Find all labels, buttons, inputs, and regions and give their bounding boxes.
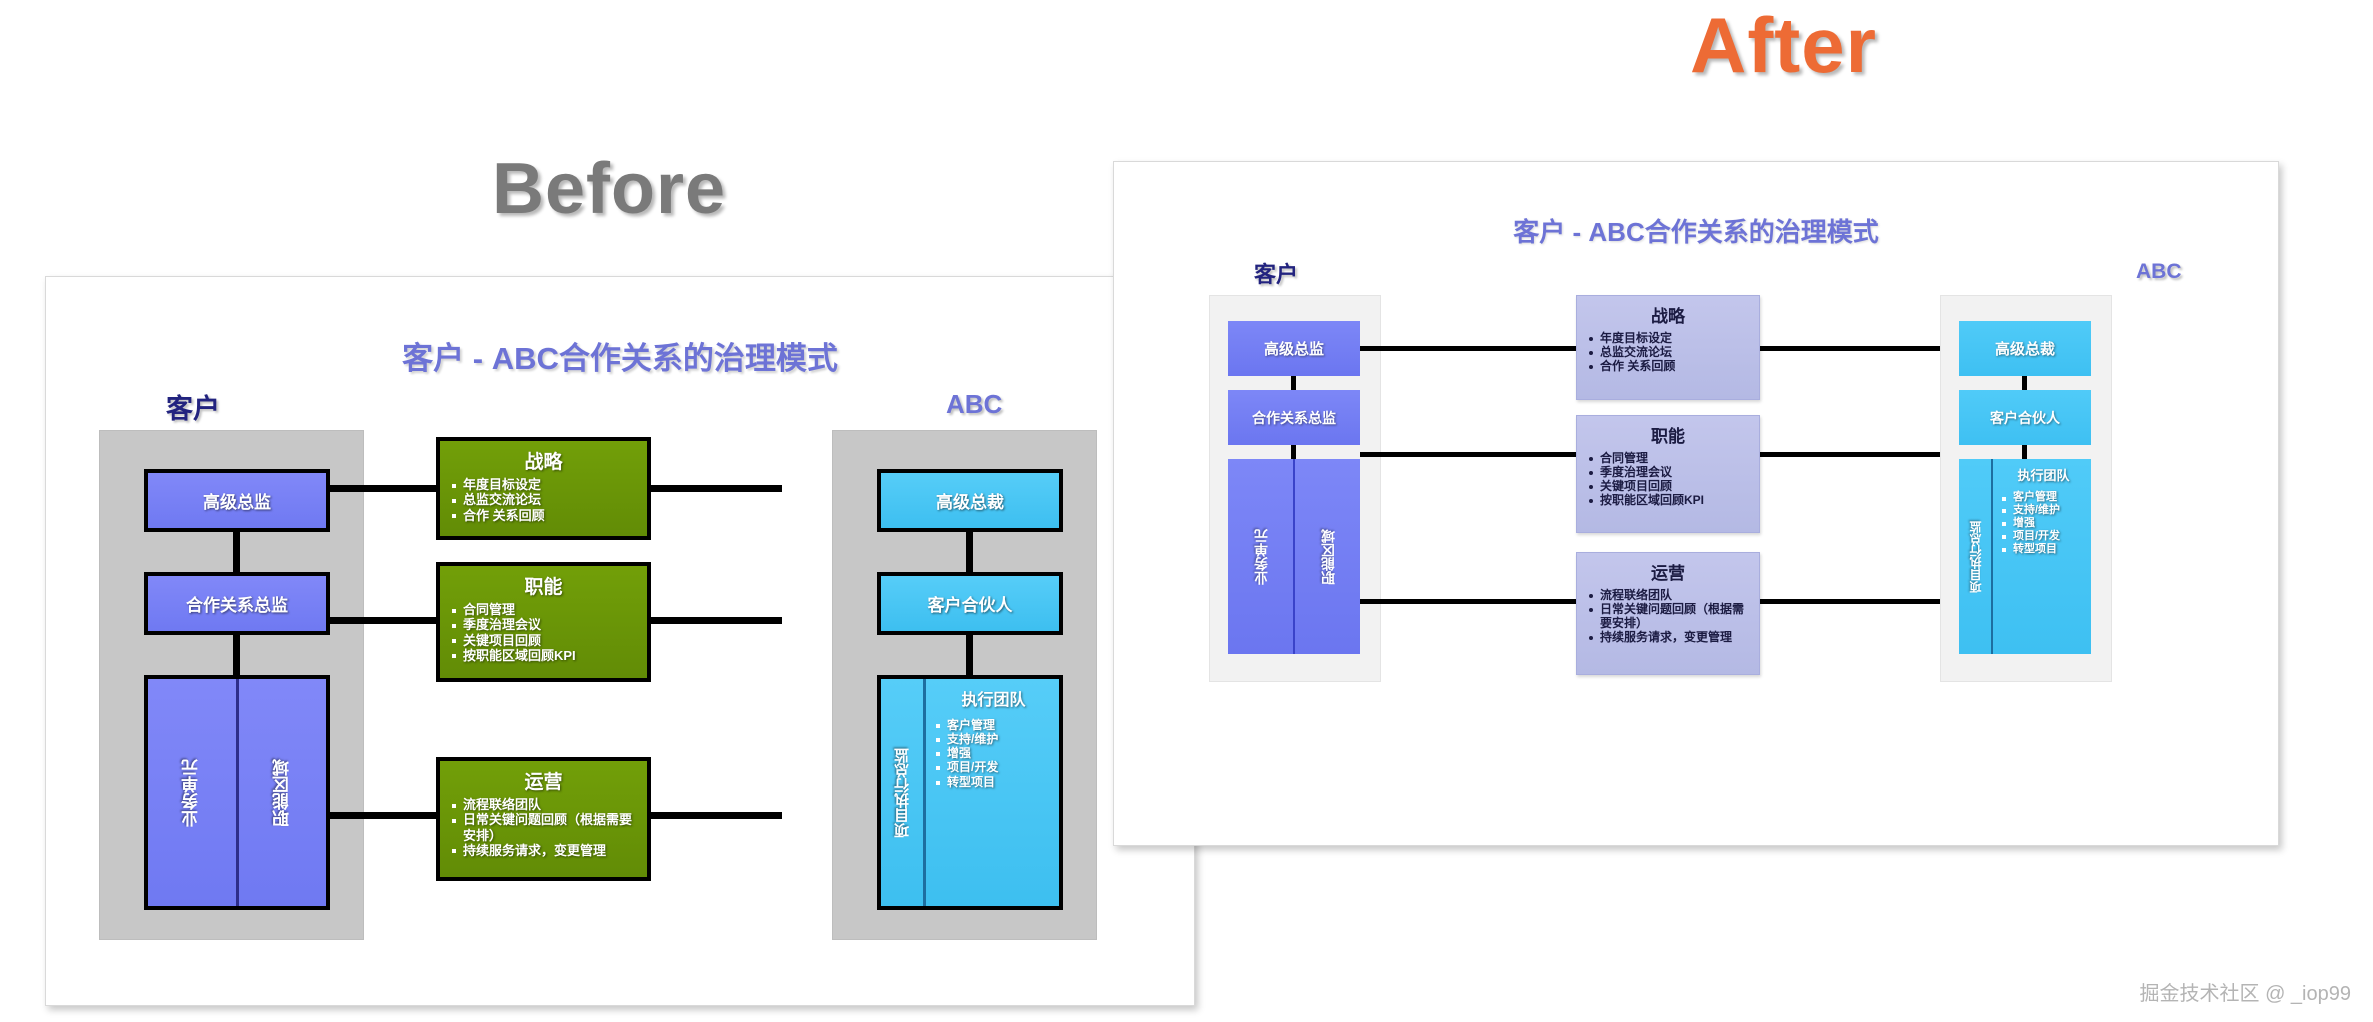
exec-team-item: 增强 (934, 746, 1053, 760)
topic-item: 季度治理会议 (1587, 465, 1749, 479)
after-link-strategy-abc (1760, 346, 1940, 351)
topic-item: 流程联络团队 (1587, 588, 1749, 602)
watermark: 掘金技术社区 @ _iop99 (2140, 977, 2351, 1006)
before-client-box-senior-director: 高级总监 (144, 469, 330, 532)
after-link-client-function (1360, 452, 1576, 457)
exec-team-item: 支持/维护 (934, 732, 1053, 746)
before-link-client-operation (330, 812, 440, 819)
topic-item: 合作 关系回顾 (1587, 359, 1749, 373)
topic-item: 按职能区域回顾KPI (450, 648, 637, 663)
exec-team-item: 增强 (2000, 517, 2087, 530)
topic-item: 日常关键问题回顾（根据需要安排） (1587, 602, 1749, 630)
label: 高级总监 (203, 488, 271, 513)
topic-item: 关键项目回顾 (1587, 479, 1749, 493)
after-abc-box-exec-team: 项目执行总监 执行团队 客户管理 支持/维护 增强 项目/开发 转型项目 (1959, 459, 2091, 654)
topic-head: 运营 (524, 767, 562, 794)
exec-team-item: 客户管理 (934, 718, 1053, 732)
label-project-exec-director: 项目执行总监 (1967, 521, 1984, 593)
topic-item: 合作 关系回顾 (450, 508, 637, 523)
topic-item: 持续服务请求，变更管理 (1587, 630, 1749, 644)
after-client-box-partnership-director: 合作关系总监 (1228, 390, 1360, 445)
after-topic-strategy: 战略 年度目标设定 总监交流论坛 合作 关系回顾 (1576, 295, 1760, 400)
before-heading: Before (492, 148, 726, 230)
label: 高级总裁 (936, 488, 1004, 513)
before-topic-operation: 运营 流程联络团队 日常关键问题回顾（根据需要安排） 持续服务请求，变更管理 (436, 757, 651, 881)
topic-head: 战略 (1651, 302, 1685, 327)
topic-item: 按职能区域回顾KPI (1587, 493, 1749, 507)
after-client-box-units: 业务单元 职能区域 (1228, 459, 1360, 654)
topic-item: 季度治理会议 (450, 617, 637, 632)
topic-item: 合同管理 (1587, 451, 1749, 465)
topic-item: 总监交流论坛 (1587, 345, 1749, 359)
before-abc-box-client-partner: 客户合伙人 (877, 572, 1063, 635)
exec-team-item: 转型项目 (2000, 543, 2087, 556)
before-link-operation-abc (647, 812, 782, 819)
before-slide-title: 客户 - ABC合作关系的治理模式 (46, 333, 1194, 378)
after-slide-title: 客户 - ABC合作关系的治理模式 (1114, 212, 2278, 249)
after-abc-connector-2 (2022, 445, 2027, 459)
before-client-box-units: 业务单元 职能区域 (144, 675, 330, 910)
label: 高级总监 (1264, 338, 1324, 359)
exec-team-item: 项目/开发 (934, 760, 1053, 774)
before-client-box-partnership-director: 合作关系总监 (144, 572, 330, 635)
topic-item: 年度目标设定 (450, 477, 637, 492)
before-topic-function: 职能 合同管理 季度治理会议 关键项目回顾 按职能区域回顾KPI (436, 562, 651, 682)
after-slide-panel: 客户 - ABC合作关系的治理模式 客户 ABC 高级总监 合作关系总监 业务单… (1113, 161, 2279, 846)
topic-item: 年度目标设定 (1587, 331, 1749, 345)
before-link-function-abc (647, 617, 782, 624)
before-topic-strategy: 战略 年度目标设定 总监交流论坛 合作 关系回顾 (436, 437, 651, 540)
exec-team-item: 转型项目 (934, 775, 1053, 789)
after-link-client-strategy (1360, 346, 1576, 351)
label-project-exec-director: 项目执行总监 (892, 748, 913, 838)
before-client-label: 客户 (166, 387, 220, 426)
after-abc-label: ABC (2136, 260, 2182, 284)
topic-item: 关键项目回顾 (450, 633, 637, 648)
after-link-client-operation (1360, 599, 1576, 604)
topic-item: 日常关键问题回顾（根据需要安排） (450, 812, 637, 843)
topic-head: 运营 (1651, 559, 1685, 584)
after-abc-connector-1 (2022, 376, 2027, 390)
exec-team-head: 执行团队 (934, 686, 1053, 710)
label-business-unit: 业务单元 (179, 759, 204, 827)
after-client-connector-2 (1291, 445, 1296, 459)
after-topic-function: 职能 合同管理 季度治理会议 关键项目回顾 按职能区域回顾KPI (1576, 415, 1760, 533)
topic-item: 总监交流论坛 (450, 492, 637, 507)
exec-team-item: 支持/维护 (2000, 504, 2087, 517)
label: 客户合伙人 (928, 591, 1013, 616)
after-client-label: 客户 (1254, 257, 1298, 289)
after-abc-box-client-partner: 客户合伙人 (1959, 390, 2091, 445)
label: 合作关系总监 (1252, 408, 1336, 428)
before-abc-connector-1 (966, 532, 973, 572)
topic-head: 职能 (524, 572, 562, 599)
topic-item: 持续服务请求，变更管理 (450, 843, 637, 858)
exec-team-item: 客户管理 (2000, 491, 2087, 504)
before-link-strategy-abc (647, 485, 782, 492)
after-link-function-abc (1760, 452, 1940, 457)
after-abc-box-senior-president: 高级总裁 (1959, 321, 2091, 376)
before-link-client-strategy (330, 485, 440, 492)
before-link-client-function (330, 617, 440, 624)
label: 高级总裁 (1995, 338, 2055, 359)
label: 客户合伙人 (1990, 408, 2060, 428)
after-client-connector-1 (1291, 376, 1296, 390)
label-function-area: 职能区域 (270, 759, 295, 827)
topic-item: 流程联络团队 (450, 797, 637, 812)
exec-team-head: 执行团队 (2000, 465, 2087, 484)
label: 合作关系总监 (186, 591, 288, 616)
before-client-connector-1 (233, 532, 240, 572)
topic-head: 战略 (524, 447, 562, 474)
after-heading: After (1690, 0, 1877, 91)
before-abc-connector-2 (966, 635, 973, 675)
before-client-connector-2 (233, 635, 240, 675)
after-link-operation-abc (1760, 599, 1940, 604)
before-abc-box-senior-president: 高级总裁 (877, 469, 1063, 532)
after-topic-operation: 运营 流程联络团队 日常关键问题回顾（根据需要安排） 持续服务请求，变更管理 (1576, 552, 1760, 675)
label-function-area: 职能区域 (1318, 529, 1338, 585)
label-business-unit: 业务单元 (1251, 529, 1271, 585)
before-slide-panel: 客户 - ABC合作关系的治理模式 客户 ABC 高级总监 合作关系总监 业务单… (45, 276, 1195, 1006)
before-abc-label: ABC (946, 389, 1002, 420)
topic-head: 职能 (1651, 422, 1685, 447)
after-client-box-senior-director: 高级总监 (1228, 321, 1360, 376)
before-abc-box-exec-team: 项目执行总监 执行团队 客户管理 支持/维护 增强 项目/开发 转型项目 (877, 675, 1063, 910)
exec-team-item: 项目/开发 (2000, 530, 2087, 543)
topic-item: 合同管理 (450, 602, 637, 617)
